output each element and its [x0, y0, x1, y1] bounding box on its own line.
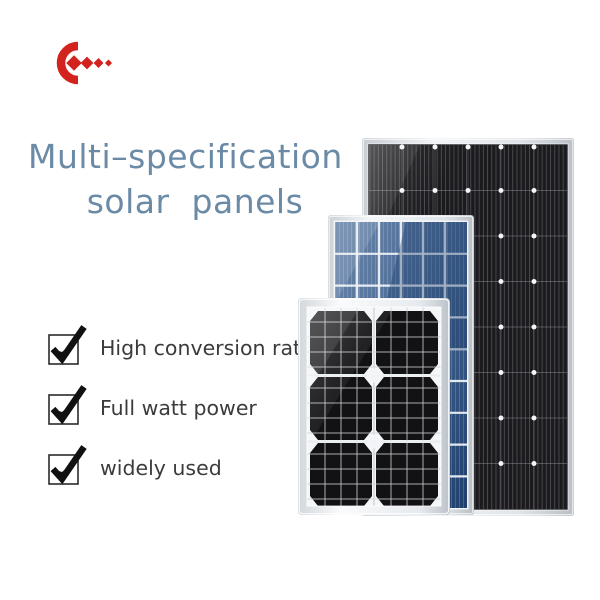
c-mark-with-dots-logo [36, 38, 146, 88]
list-item-label: High conversion rate [100, 336, 314, 360]
checkbox-checked-icon[interactable] [48, 392, 82, 424]
checkbox-checked-icon[interactable] [48, 452, 82, 484]
page-title: Multi–specification solar panels [0, 138, 350, 222]
brand-logo[interactable] [36, 38, 146, 88]
list-item[interactable]: widely used [48, 444, 328, 492]
list-item-label: Full watt power [100, 396, 257, 420]
list-item-label: widely used [100, 456, 222, 480]
list-item[interactable]: Full watt power [48, 384, 328, 432]
small-monocrystalline-panel [298, 298, 450, 515]
headline-line-1: Multi–specification [0, 138, 350, 177]
feature-list: High conversion rate Full watt power [48, 324, 328, 504]
product-banner: Multi–specification solar panels High co… [0, 0, 600, 600]
list-item[interactable]: High conversion rate [48, 324, 328, 372]
checkbox-checked-icon[interactable] [48, 332, 82, 364]
headline-line-2: solar panels [0, 183, 350, 222]
